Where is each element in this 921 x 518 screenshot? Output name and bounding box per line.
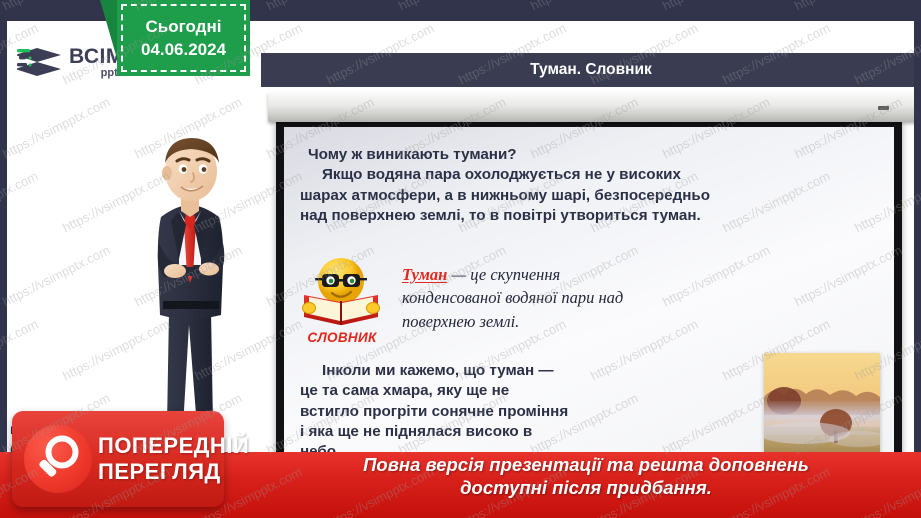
paragraph-intro: Чому ж виникають тумани? Якщо водяна пар… (300, 145, 878, 226)
foggy-landscape-photo (764, 353, 880, 463)
fog-photo-svg (764, 353, 880, 463)
dictionary-definition: Туман — це скупчення конденсованої водян… (402, 253, 880, 345)
cloud-line-4: і яка ще не піднялася високо в (300, 422, 704, 442)
graduation-cap-icon (17, 43, 65, 83)
watermark-text: https://vsimpptx.com (396, 0, 508, 13)
paragraph-cloud: Інколи ми кажемо, що туман — це та сама … (300, 361, 704, 463)
intro-line-1: Якщо водяна пара охолоджується не у висо… (300, 165, 878, 185)
magnifier-icon (24, 425, 92, 493)
preview-badge[interactable]: ПОПЕРЕДНІЙ ПЕРЕГЛЯД (12, 411, 224, 507)
watermark-text: https://vsimpptx.com (792, 0, 904, 13)
intro-question: Чому ж виникають тумани? (300, 145, 878, 165)
cloud-line-2: це та сама хмара, яку ще не (300, 381, 704, 401)
preview-line-2: ПЕРЕГЛЯД (98, 461, 249, 483)
watermark-text: https://vsimpptx.com (0, 0, 112, 13)
projector-roller-bar (268, 92, 914, 122)
definition-line-2: конденсованої водяної пари над (402, 288, 623, 307)
dictionary-block: СЛОВНИК Туман — це скупчення конденсован… (296, 253, 880, 345)
page-title: Туман. Словник (530, 61, 652, 79)
projector-screen-frame: Чому ж виникають тумани? Якщо водяна пар… (276, 119, 902, 493)
banner-line-1: Повна версія презентації та решта доповн… (256, 454, 916, 477)
watermark-text: https://vsimpptx.com (264, 0, 376, 13)
preview-line-1: ПОПЕРЕДНІЙ (98, 435, 249, 457)
date-badge-value: 04.06.2024 (141, 40, 226, 60)
slide-viewer: ВСІМ pptx (0, 0, 921, 518)
definition-line-3: поверхнею землі. (402, 312, 519, 331)
dictionary-term: Туман (402, 265, 447, 284)
banner-line-2: доступні після придбання. (256, 477, 916, 500)
dictionary-caption: СЛОВНИК (296, 330, 388, 345)
watermark-text: https://vsimpptx.com (528, 0, 640, 13)
roller-knob-icon (878, 106, 889, 110)
cloud-line-3: встигло прогріти сонячне проміння (300, 402, 704, 422)
intro-line-2: шарах атмосфери, а в нижньому шарі, безп… (300, 186, 878, 206)
dictionary-dash: — (451, 265, 466, 284)
cloud-line-1: Інколи ми кажемо, що туман — (300, 361, 704, 381)
date-badge-label: Сьогодні (146, 17, 222, 37)
preview-badge-label: ПОПЕРЕДНІЙ ПЕРЕГЛЯД (98, 435, 249, 483)
banner-text: Повна версія презентації та решта доповн… (256, 454, 916, 499)
intro-line-3: над поверхнею землі, то в повітрі утвори… (300, 206, 878, 226)
projector-screen: Чому ж виникають тумани? Якщо водяна пар… (284, 127, 894, 489)
graduation-cap-svg (17, 43, 65, 83)
dictionary-icon-svg (296, 255, 386, 329)
today-date-badge: Сьогодні 04.06.2024 (117, 0, 250, 76)
definition-line-1: це скупчення (470, 265, 560, 284)
businessman-svg (131, 125, 263, 445)
slide-title-bar: Туман. Словник (261, 53, 914, 87)
magnifier-svg (24, 425, 92, 493)
watermark-text: https://vsimpptx.com (660, 0, 772, 13)
businessman-illustration (131, 125, 263, 445)
smiley-reading-book-icon: СЛОВНИК (296, 253, 388, 345)
